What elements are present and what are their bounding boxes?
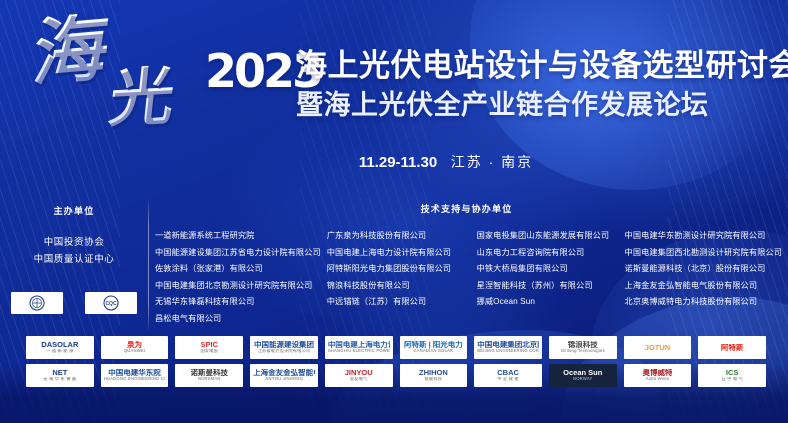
sponsor-logo: 上海金友金弘智能电气JINYOU JINHONG (250, 364, 318, 387)
partner-name: 中国能源建设集团江苏省电力设计院有限公司 (155, 245, 321, 262)
sponsor-logo: 泉为QUANWEI (101, 336, 169, 359)
sponsor-logo-subtitle: NORWAY (563, 377, 602, 381)
sponsor-logo-subtitle: 无 锡 华 东 锋 磊 (43, 377, 76, 381)
sponsor-logo: 中国电建华东院HUADONG ENGINEERING CORPORATION (101, 364, 169, 387)
partner-name: 阿特斯阳光电力集团股份有限公司 (327, 261, 471, 278)
partner-name: 星涅智能科技（苏州）有限公司 (477, 278, 619, 295)
sponsor-logo-subtitle: 国家电投 (200, 349, 218, 353)
sponsor-logo-name: 诺斯曼科技NORSMAN (191, 369, 229, 381)
sponsor-logo-name: 中国电建集团北京院BEIJING ENGINEERING CORPORATION (477, 341, 539, 353)
sponsor-logo-subtitle: 一 道 新 能 源 (41, 349, 78, 353)
event-title-line1: 海上光伏电站设计与设备选型研讨会 (296, 49, 788, 84)
sponsor-logo-name: 奥博威特Aobo Weite (642, 369, 672, 381)
sponsor-logo: 中国电建上海电力设计院SHANGHAI ELECTRIC POWER DESIG… (325, 336, 393, 359)
partner-column: 一道新能源系统工程研究院 中国能源建设集团江苏省电力设计院有限公司 佐敦涂料（张… (155, 228, 327, 328)
section-divider (148, 200, 149, 330)
sponsor-logo-name: SPIC国家电投 (200, 341, 218, 353)
host-name: 中国投资协会 (0, 234, 148, 248)
sponsor-logo: NET无 锡 华 东 锋 磊 (26, 364, 94, 387)
sponsor-logo-subtitle: JINYOU JINHONG (253, 377, 315, 381)
event-location: 江苏 · 南京 (451, 154, 533, 170)
host-section: 主办单位 中国投资协会 中国质量认证中心 (0, 204, 148, 265)
partner-name: 锦浪科技股份有限公司 (327, 278, 471, 295)
sponsor-logo-name: 中国电建华东院HUADONG ENGINEERING CORPORATION (104, 369, 166, 381)
sponsor-logo-name: 锦浪科技Ginlong Technologies (561, 341, 605, 353)
sponsor-logo-subtitle: 金友电气 (345, 377, 373, 381)
sponsor-logo-name: 中国能源建设集团江苏省电力设计院有限公司 (254, 341, 314, 353)
event-title-line2: 暨海上光伏全产业链合作发展论坛 (296, 90, 709, 120)
partner-name: 无锡华东锋磊科技有限公司 (155, 294, 321, 311)
partner-name: 一道新能源系统工程研究院 (155, 228, 321, 245)
sponsor-logo-subtitle: 江苏省电力设计院有限公司 (254, 349, 314, 353)
partner-name: 中国电建上海电力设计院有限公司 (327, 245, 471, 262)
sponsor-logo-name: CBAC中 亚 建 能 (497, 369, 519, 381)
sponsor-logo: 中国电建集团北京院BEIJING ENGINEERING CORPORATION (474, 336, 542, 359)
sponsor-logo-subtitle: CANADIAN SOLAR (404, 349, 463, 353)
sponsor-logo: SPIC国家电投 (175, 336, 243, 359)
sponsor-logo-name: 阿特斯 | 阳光电力CANADIAN SOLAR (404, 341, 463, 353)
partner-name: 广东泉为科技股份有限公司 (327, 228, 471, 245)
sponsor-logo-subtitle: Ginlong Technologies (561, 349, 605, 353)
support-heading: 技术支持与协办单位 (145, 202, 788, 215)
sponsor-logo: 诺斯曼科技NORSMAN (175, 364, 243, 387)
host-name: 中国质量认证中心 (0, 251, 148, 265)
host-heading: 主办单位 (0, 204, 148, 217)
sponsor-logo-row: DASOLAR一 道 新 能 源 泉为QUANWEI SPIC国家电投 中国能源… (26, 336, 766, 359)
svg-text:CQC: CQC (105, 301, 117, 307)
sponsor-logo-name: JOTUN (645, 344, 670, 352)
sponsor-logo-subtitle: 中 亚 建 能 (497, 377, 519, 381)
sponsor-logo: JINYOU金友电气 (325, 364, 393, 387)
organiser-band: 主办单位 中国投资协会 中国质量认证中心 CQC (0, 196, 788, 336)
sponsor-logo-name: 中国电建上海电力设计院SHANGHAI ELECTRIC POWER DESIG… (328, 341, 390, 353)
partner-name: 国家电投集团山东能源发展有限公司 (477, 228, 619, 245)
partner-name: 中远锚链（江苏）有限公司 (327, 294, 471, 311)
certification-badges: CQC (0, 292, 148, 314)
calligraphy-char-hai: 海 (30, 11, 113, 91)
sponsor-logo-subtitle: QUANWEI (124, 349, 145, 353)
partner-name: 北京奥博威特电力科技股份有限公司 (625, 294, 782, 311)
partner-columns: 一道新能源系统工程研究院 中国能源建设集团江苏省电力设计院有限公司 佐敦涂料（张… (155, 228, 788, 328)
cqc-emblem-icon: CQC (85, 292, 137, 314)
partner-name: 中国电建集团西北勘测设计研究院有限公司 (625, 245, 782, 262)
sponsor-logo-name: DASOLAR一 道 新 能 源 (41, 341, 78, 353)
partner-name: 中国电建集团北京勘测设计研究院有限公司 (155, 278, 321, 295)
partner-column: 中国电建华东勘测设计研究院有限公司 中国电建集团西北勘测设计研究院有限公司 诺斯… (625, 228, 788, 328)
partner-name: 诺斯曼能源科技（北京）股份有限公司 (625, 261, 782, 278)
event-dateline: 11.29-11.30 江苏 · 南京 (296, 152, 596, 172)
sponsor-logo-name: Ocean SunNORWAY (563, 369, 602, 381)
sponsor-logo-subtitle: BEIJING ENGINEERING CORPORATION (477, 349, 539, 353)
poster-header: 海 光 2023 海上光伏电站设计与设备选型研讨会 暨海上光伏全产业链合作发展论… (0, 0, 788, 190)
conference-poster: 海 光 2023 海上光伏电站设计与设备选型研讨会 暨海上光伏全产业链合作发展论… (0, 0, 788, 423)
sponsor-logo: ZHIHON智能科技 (400, 364, 468, 387)
partner-name: 挪威Ocean Sun (477, 294, 619, 311)
sponsor-logo-grid: DASOLAR一 道 新 能 源 泉为QUANWEI SPIC国家电投 中国能源… (26, 336, 766, 392)
host-list: 中国投资协会 中国质量认证中心 (0, 234, 148, 265)
sponsor-logo: 阿特斯 | 阳光电力CANADIAN SOLAR (400, 336, 468, 359)
sponsor-logo-subtitle: HUADONG ENGINEERING CORPORATION (104, 377, 166, 381)
sponsor-logo: DASOLAR一 道 新 能 源 (26, 336, 94, 359)
partner-name: 上海金友金弘智能电气股份有限公司 (625, 278, 782, 295)
calligraphy-char-guang: 光 (106, 64, 177, 131)
sponsor-logo-subtitle: Aobo Weite (642, 377, 672, 381)
sponsor-logo: 锦浪科技Ginlong Technologies (549, 336, 617, 359)
sponsor-logo: Ocean SunNORWAY (549, 364, 617, 387)
sponsor-logo: 中国能源建设集团江苏省电力设计院有限公司 (250, 336, 318, 359)
sponsor-logo-name: JINYOU金友电气 (345, 369, 373, 381)
partner-name: 昌松电气有限公司 (155, 311, 321, 328)
sponsor-logo-name: 阿特斯 (721, 344, 744, 352)
sponsor-logo-name: 泉为QUANWEI (124, 341, 145, 353)
sponsor-logo: 奥博威特Aobo Weite (624, 364, 692, 387)
partner-name: 中国电建华东勘测设计研究院有限公司 (625, 228, 782, 245)
sponsor-logo-name: ZHIHON智能科技 (419, 369, 448, 381)
sponsor-logo: ICS日 中 电 气 (698, 364, 766, 387)
sponsor-logo: JOTUN (624, 336, 692, 359)
partner-name: 山东电力工程咨询院有限公司 (477, 245, 619, 262)
sponsor-logo-subtitle: NORSMAN (191, 377, 229, 381)
event-date: 11.29-11.30 (359, 154, 437, 171)
partner-column: 广东泉为科技股份有限公司 中国电建上海电力设计院有限公司 阿特斯阳光电力集团股份… (327, 228, 477, 328)
sponsor-logo-row: NET无 锡 华 东 锋 磊 中国电建华东院HUADONG ENGINEERIN… (26, 364, 766, 387)
partner-name: 中铁大桥局集团有限公司 (477, 261, 619, 278)
sponsor-logo-name: NET无 锡 华 东 锋 磊 (43, 369, 76, 381)
sponsor-logo-subtitle: SHANGHAI ELECTRIC POWER DESIGN (328, 349, 390, 353)
partner-column: 国家电投集团山东能源发展有限公司 山东电力工程咨询院有限公司 中铁大桥局集团有限… (477, 228, 625, 328)
sponsor-logo: 阿特斯 (698, 336, 766, 359)
sponsor-logo-subtitle: 日 中 电 气 (721, 377, 743, 381)
cia-emblem-icon (11, 292, 63, 314)
support-section: 技术支持与协办单位 (155, 202, 788, 215)
sponsor-logo-name: 上海金友金弘智能电气JINYOU JINHONG (253, 369, 315, 381)
sponsor-logo-name: ICS日 中 电 气 (721, 369, 743, 381)
sponsor-logo: CBAC中 亚 建 能 (474, 364, 542, 387)
partner-name: 佐敦涂料（张家港）有限公司 (155, 261, 321, 278)
sponsor-logo-subtitle: 智能科技 (419, 377, 448, 381)
